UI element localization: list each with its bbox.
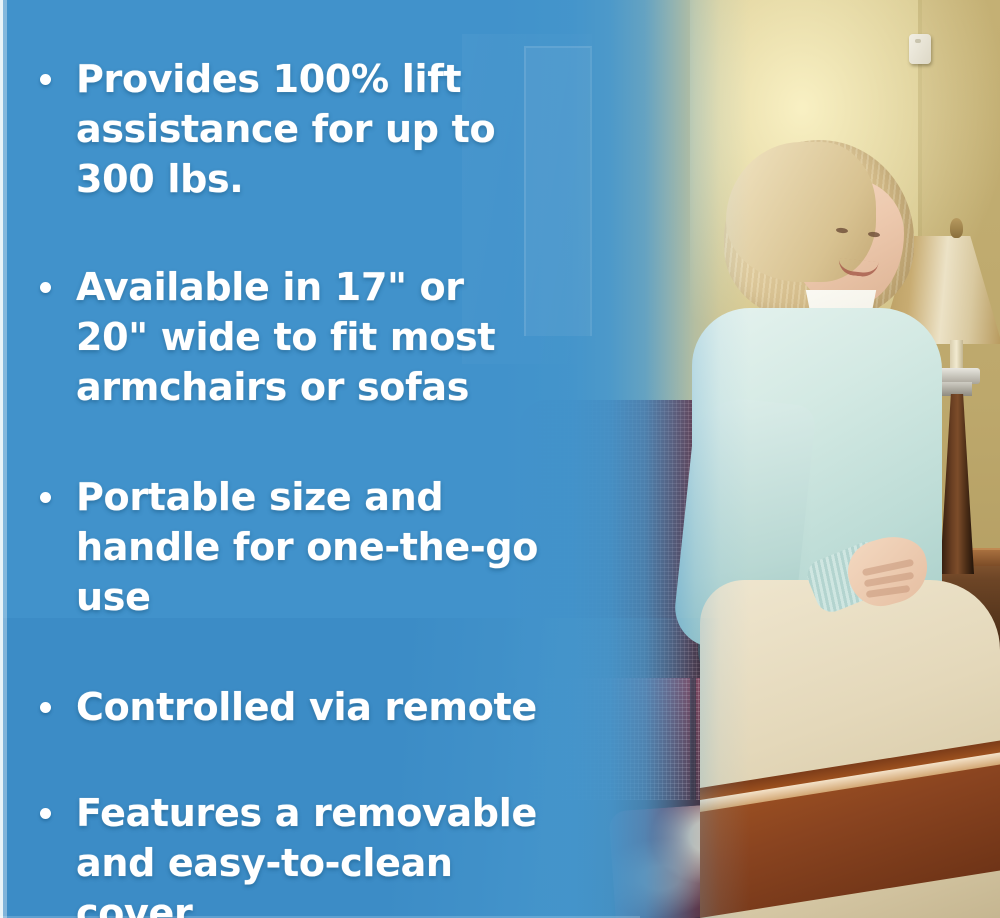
bullet-dot-icon <box>40 808 51 819</box>
bullet-dot-icon <box>40 492 51 503</box>
bullet-text: Available in 17" or 20" wide to fit most… <box>76 262 546 412</box>
bullet-text: Features a removable and easy-to-clean c… <box>76 788 546 918</box>
bullet-text: Portable size and handle for one-the-go … <box>76 472 546 622</box>
list-item: Provides 100% lift assistance for up to … <box>0 54 546 204</box>
list-item: Available in 17" or 20" wide to fit most… <box>0 262 546 412</box>
bullet-text: Controlled via remote <box>76 682 537 732</box>
promo-feature-graphic: Provides 100% lift assistance for up to … <box>0 0 1000 918</box>
list-item: Portable size and handle for one-the-go … <box>0 472 546 622</box>
bullet-dot-icon <box>40 74 51 85</box>
bullet-dot-icon <box>40 702 51 713</box>
list-item: Features a removable and easy-to-clean c… <box>0 788 546 918</box>
list-item: Controlled via remote <box>0 682 537 732</box>
bullet-dot-icon <box>40 282 51 293</box>
feature-bullet-list: Provides 100% lift assistance for up to … <box>0 0 640 918</box>
bullet-text: Provides 100% lift assistance for up to … <box>76 54 546 204</box>
